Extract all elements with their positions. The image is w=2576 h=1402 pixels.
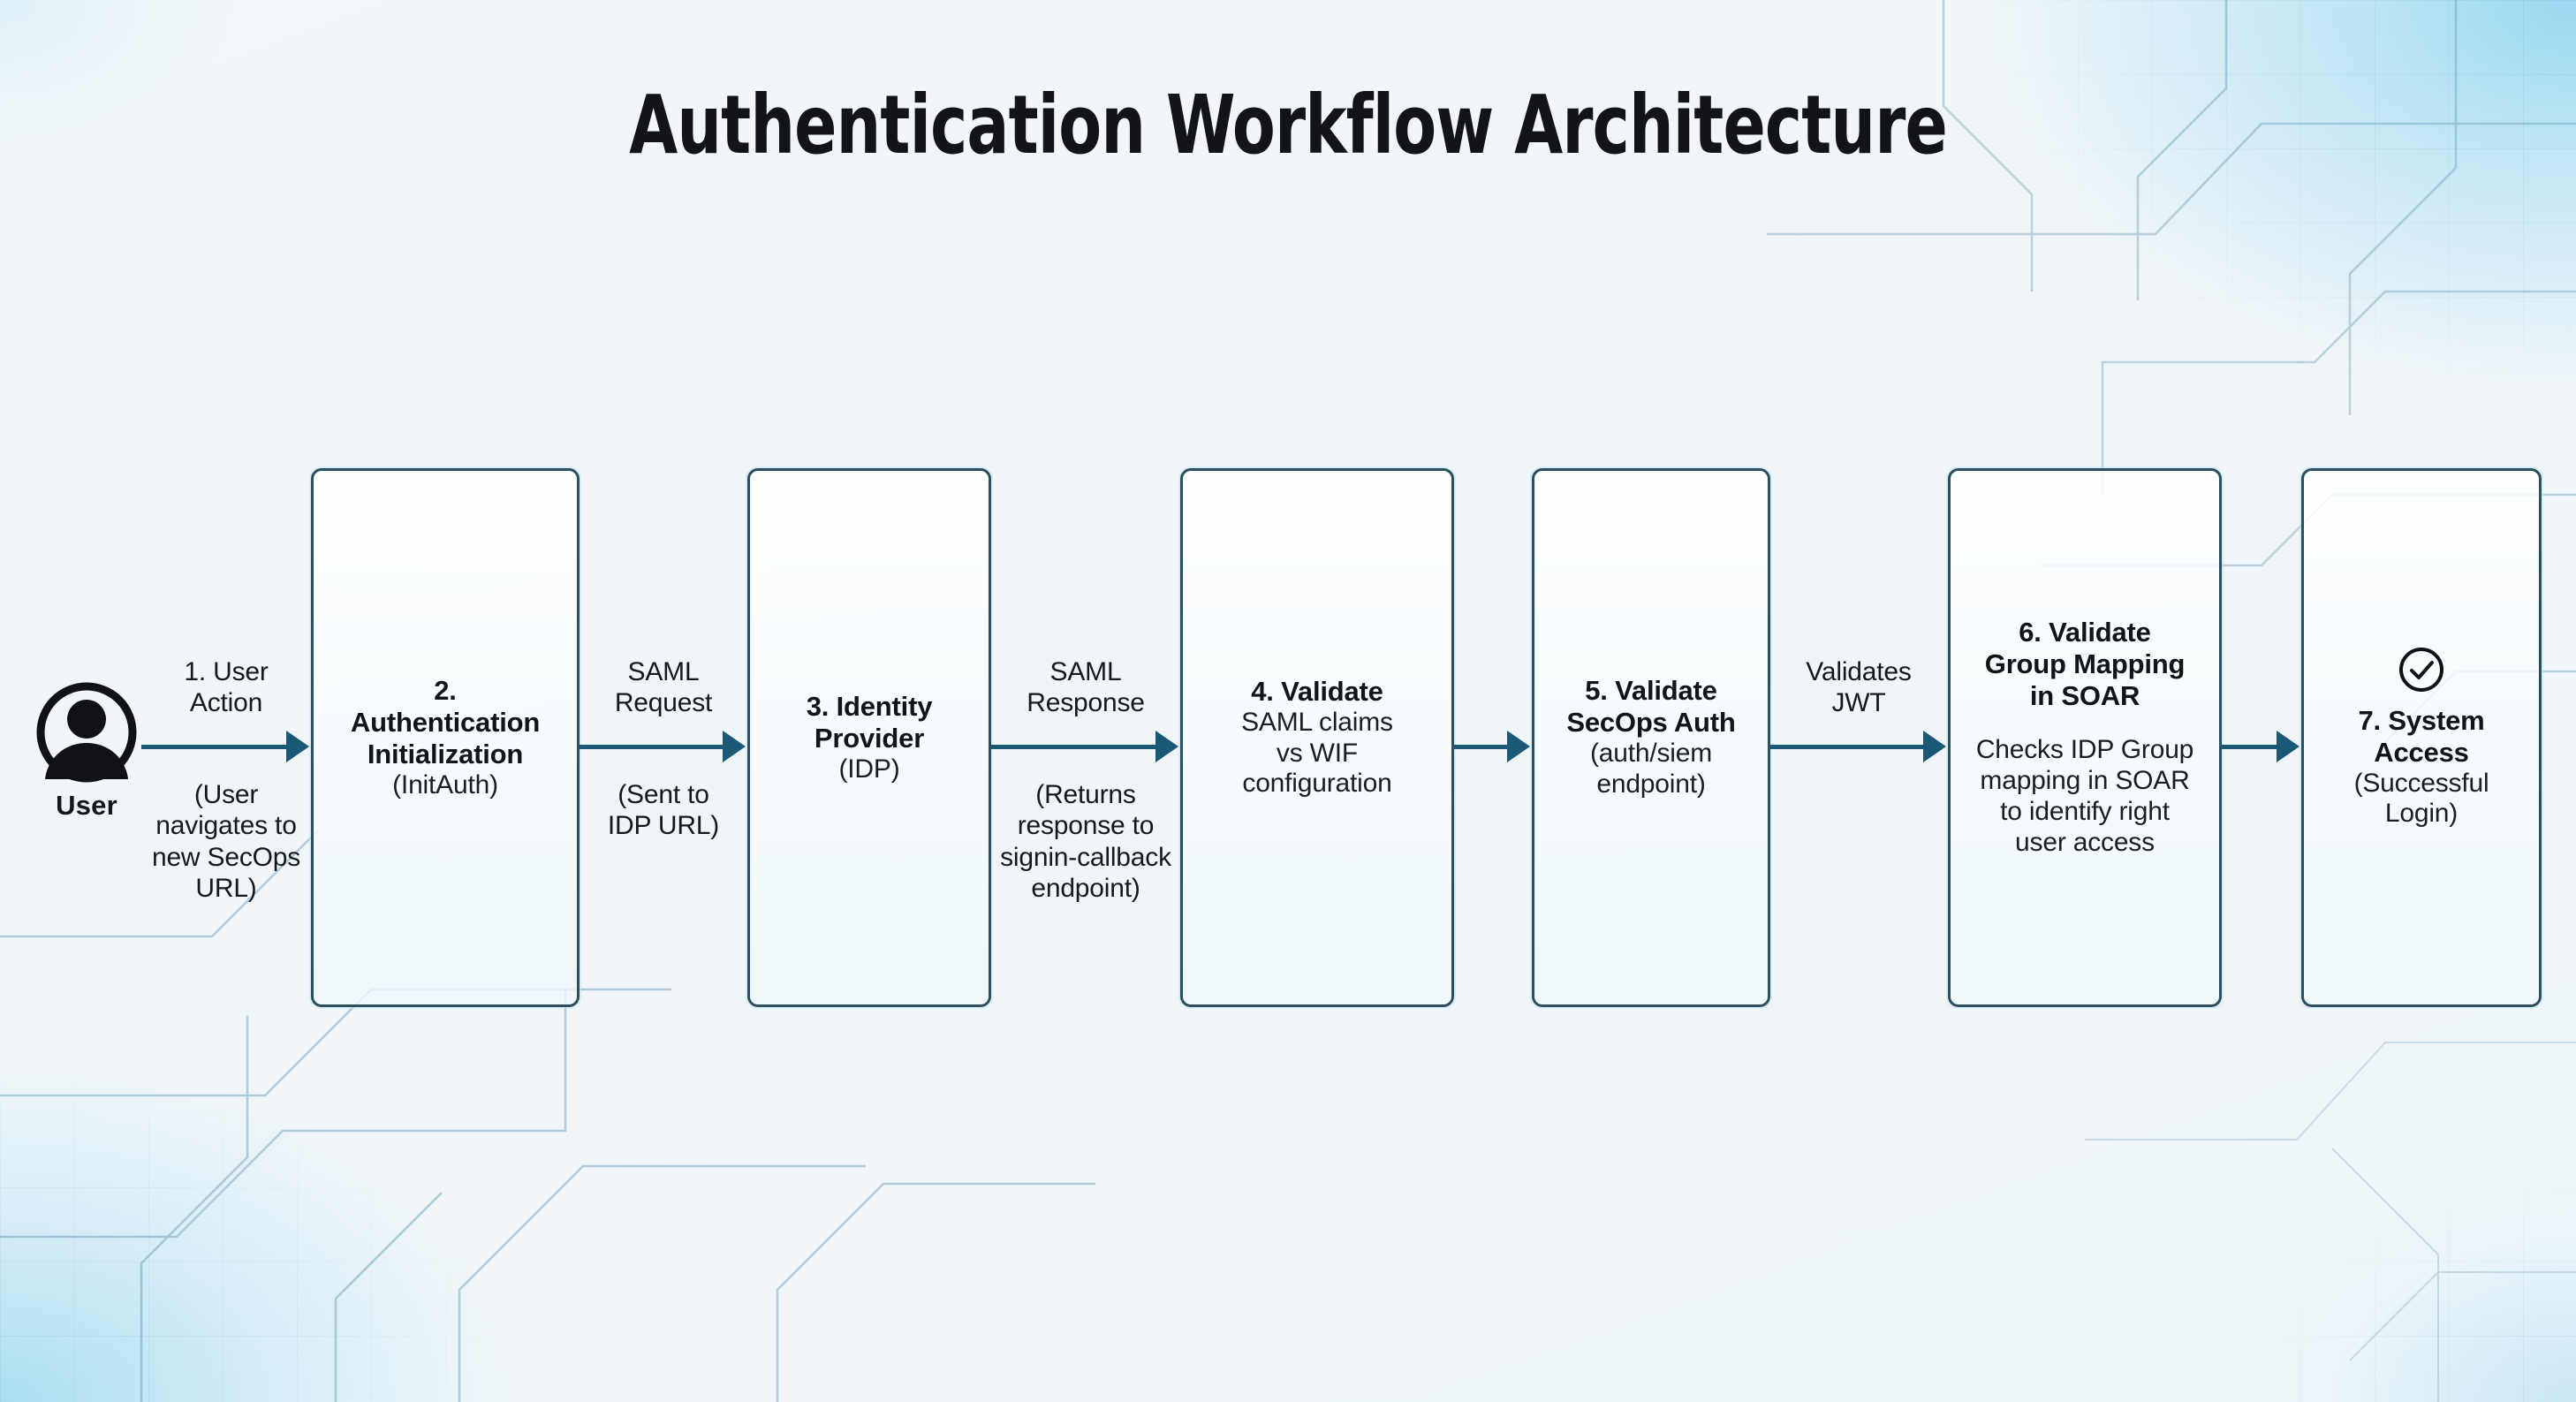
node-validate-secops-auth[interactable]: 5. Validate SecOps Auth (auth/siem endpo… bbox=[1532, 468, 1770, 1007]
actor-user-label: User bbox=[34, 790, 140, 822]
node-system-access[interactable]: 7. System Access (Successful Login) bbox=[2301, 468, 2542, 1007]
connector-label-top: 1. User Action bbox=[134, 656, 318, 719]
connector-arrowhead-icon bbox=[1923, 731, 1946, 762]
connector-line bbox=[991, 745, 1157, 749]
node-title: 5. Validate SecOps Auth bbox=[1566, 675, 1735, 739]
node-validate-group-mapping-soar[interactable]: 6. Validate Group Mapping in SOAR Checks… bbox=[1948, 468, 2222, 1007]
connector-line bbox=[580, 745, 724, 749]
connector-label-bottom: (Sent to IDP URL) bbox=[567, 779, 760, 842]
node-title: 3. Identity Provider bbox=[807, 691, 933, 754]
connector-label-top: Validates JWT bbox=[1760, 656, 1958, 719]
connector-arrowhead-icon bbox=[286, 731, 309, 762]
actor-user: User bbox=[34, 680, 140, 822]
node-subtitle: SAML claims vs WIF configuration bbox=[1241, 708, 1393, 800]
node-subtitle: Checks IDP Group mapping in SOAR to iden… bbox=[1976, 735, 2193, 858]
connector-label-top: SAML Response bbox=[977, 656, 1194, 719]
node-subtitle: (Successful Login) bbox=[2354, 769, 2489, 830]
node-authentication-initialization[interactable]: 2. Authentication Initialization (InitAu… bbox=[311, 468, 580, 1007]
connector-arrowhead-icon bbox=[2277, 731, 2299, 762]
authentication-workflow-diagram: User 1. User Action (User navigates to n… bbox=[0, 0, 2576, 1402]
node-subtitle: (auth/siem endpoint) bbox=[1590, 739, 1712, 800]
connector-label-bottom: (User navigates to new SecOps URL) bbox=[129, 779, 323, 905]
node-title: 4. Validate bbox=[1251, 676, 1383, 708]
connector-arrowhead-icon bbox=[723, 731, 746, 762]
connector-line bbox=[141, 745, 288, 749]
node-subtitle: (InitAuth) bbox=[392, 770, 498, 801]
node-identity-provider[interactable]: 3. Identity Provider (IDP) bbox=[747, 468, 991, 1007]
connector-label-top: SAML Request bbox=[571, 656, 756, 719]
connector-line bbox=[1454, 745, 1509, 749]
node-subtitle: (IDP) bbox=[839, 754, 900, 785]
node-title: 7. System Access bbox=[2359, 705, 2485, 769]
node-title: 2. Authentication Initialization bbox=[351, 675, 540, 770]
node-title: 6. Validate Group Mapping in SOAR bbox=[1985, 617, 2185, 712]
connector-line bbox=[2222, 745, 2278, 749]
connector-label-bottom: (Returns response to signin-callback end… bbox=[972, 779, 1200, 905]
connector-arrowhead-icon bbox=[1507, 731, 1530, 762]
node-validate-saml-claims[interactable]: 4. Validate SAML claims vs WIF configura… bbox=[1180, 468, 1454, 1007]
user-avatar-icon bbox=[34, 680, 140, 784]
connector-arrowhead-icon bbox=[1155, 731, 1178, 762]
connector-line bbox=[1770, 745, 1925, 749]
check-circle-icon bbox=[2398, 646, 2445, 698]
